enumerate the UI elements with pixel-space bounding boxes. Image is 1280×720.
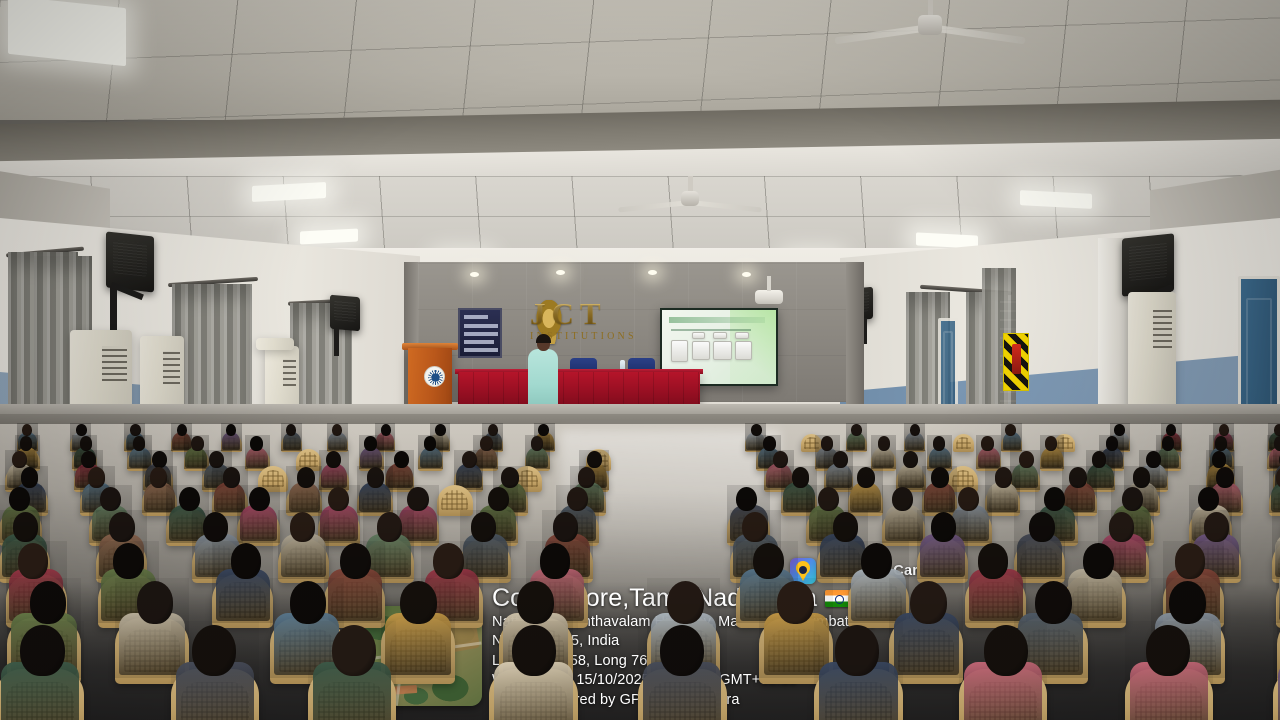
presenter-hair <box>536 334 551 343</box>
fan-blade <box>618 200 690 212</box>
audience-member <box>525 435 550 469</box>
audience-head <box>462 451 477 468</box>
audience-member <box>278 510 329 579</box>
audience-head <box>191 436 203 450</box>
audience-head <box>1045 436 1057 450</box>
audience-head <box>364 436 376 450</box>
audience-head <box>1219 424 1229 436</box>
audience-head <box>328 487 349 512</box>
slide-title-band <box>669 317 765 324</box>
audience-head <box>332 424 342 436</box>
audience-head <box>531 436 543 450</box>
slide-thumbnail <box>713 332 727 339</box>
slide-thumbnail <box>713 341 731 360</box>
audience-head <box>910 581 947 624</box>
audience-member <box>308 621 396 720</box>
audience-member <box>638 621 726 720</box>
ceiling-fan <box>840 0 1020 46</box>
notice-row <box>464 332 498 336</box>
audience-head <box>995 467 1013 487</box>
stage-downlight <box>470 272 479 277</box>
audience-head <box>381 424 391 436</box>
audience-head <box>933 436 945 450</box>
audience-head <box>931 467 949 487</box>
audience-head <box>20 436 32 450</box>
speaker-bracket <box>334 328 339 356</box>
stage-downlight <box>742 272 751 277</box>
audience-head <box>76 424 86 436</box>
audience-head <box>910 424 920 436</box>
audience-head <box>1106 436 1118 450</box>
podium-emblem-icon <box>424 366 445 387</box>
ac-vent <box>163 351 181 383</box>
audience-head <box>857 467 875 487</box>
fire-extinguisher-box <box>1003 333 1029 391</box>
audience-head <box>13 512 38 541</box>
audience-member <box>237 485 280 542</box>
audience-head <box>1109 512 1134 541</box>
audience-member <box>1273 621 1280 720</box>
audience-member <box>357 466 392 514</box>
audience-head <box>821 436 833 450</box>
audience-head <box>290 512 315 541</box>
audience-head <box>1166 424 1176 436</box>
audience-member <box>848 466 883 514</box>
audience-head <box>488 424 498 436</box>
audience-head <box>1114 424 1124 436</box>
audience-head <box>667 581 704 624</box>
audience-head <box>20 625 64 676</box>
audience-head <box>1083 543 1114 578</box>
wall-speaker <box>330 295 360 332</box>
stage-downlight <box>648 270 657 275</box>
audience-head <box>133 436 145 450</box>
audience-head <box>137 581 174 624</box>
audience-member <box>846 423 867 451</box>
audience-head <box>538 424 548 436</box>
slide-thumbnail <box>735 332 749 339</box>
audience-head <box>753 543 784 578</box>
audience-member <box>976 435 1001 469</box>
notice-row <box>464 315 488 319</box>
audience-head <box>231 543 262 578</box>
notice-row <box>464 340 494 344</box>
audience-member <box>489 621 577 720</box>
ac-vent <box>1153 310 1172 348</box>
audience-head <box>290 581 327 624</box>
audience-head <box>1005 424 1015 436</box>
audience-member <box>327 423 348 451</box>
audience-head <box>512 625 556 676</box>
audience-member <box>1269 466 1280 514</box>
audience-head <box>340 543 371 578</box>
audience-member <box>904 423 925 451</box>
slide-bullet-line <box>671 329 751 332</box>
fan-blade <box>930 24 1026 44</box>
audience-head <box>742 512 767 541</box>
audience-head <box>984 625 1028 676</box>
audience-head <box>424 436 436 450</box>
audience-head <box>326 451 341 468</box>
audience-member <box>1040 435 1065 469</box>
fan-blade <box>690 200 762 212</box>
audience-head <box>1044 487 1065 512</box>
audience-member <box>171 621 259 720</box>
ceiling-projector <box>755 290 783 304</box>
audience-head <box>203 512 228 541</box>
ac-vent <box>102 346 127 381</box>
audience-chair <box>953 434 974 452</box>
audience-member <box>286 466 321 514</box>
audience-head <box>394 451 409 468</box>
audience-head <box>400 581 437 624</box>
audience-member <box>959 621 1047 720</box>
audience-member <box>0 621 84 720</box>
audience-head <box>567 487 588 512</box>
audience-head <box>958 487 979 512</box>
audience-member <box>245 435 270 469</box>
tower-ac-unit <box>1128 292 1176 420</box>
audience-head <box>1274 436 1280 450</box>
audience-head <box>177 424 187 436</box>
audience-head <box>22 424 32 436</box>
audience-head <box>553 512 578 541</box>
notice-row <box>464 348 498 352</box>
audience-head <box>892 487 913 512</box>
audience-member <box>281 423 302 451</box>
audience-head <box>480 436 492 450</box>
audience-head <box>80 436 92 450</box>
audience-member <box>814 621 902 720</box>
audience-head <box>861 543 892 578</box>
audience-head <box>192 625 236 676</box>
audience-head <box>1204 512 1229 541</box>
audience-head <box>660 625 704 676</box>
audience-head <box>297 467 315 487</box>
audience-head <box>250 436 262 450</box>
audience-head <box>1122 487 1143 512</box>
audience-head <box>1035 581 1072 624</box>
stage-table <box>458 372 700 408</box>
audience-head <box>903 451 918 468</box>
audience-head <box>488 487 509 512</box>
audience-head <box>9 487 30 512</box>
audience-member <box>221 423 242 451</box>
fan-blade <box>834 24 930 44</box>
audience-head <box>1029 512 1054 541</box>
audience-member <box>319 450 349 490</box>
audience-head <box>179 487 200 512</box>
audience-head <box>433 543 464 578</box>
audience-head <box>1162 436 1174 450</box>
slide-thumbnail <box>671 340 688 362</box>
presenter <box>528 336 558 414</box>
audience-head <box>833 512 858 541</box>
audience-member <box>1125 621 1213 720</box>
audience-head <box>751 424 761 436</box>
notice-row <box>464 324 498 328</box>
audience-member <box>917 510 968 579</box>
audience-head <box>100 487 121 512</box>
audience-member <box>1001 423 1022 451</box>
audience-head <box>407 487 428 512</box>
audience-head <box>109 512 134 541</box>
audience-head <box>1019 451 1034 468</box>
audience-head <box>981 436 993 450</box>
audience-head <box>367 467 385 487</box>
audience-head <box>818 487 839 512</box>
audience-head <box>540 543 571 578</box>
notice-board <box>458 308 502 358</box>
audience-head <box>435 424 445 436</box>
audience-head <box>113 543 144 578</box>
stage-downlight <box>556 270 565 275</box>
photograph: JCT INSTITUTIONS <box>0 0 1280 720</box>
audience-head <box>1175 543 1206 578</box>
ac-vent <box>283 359 297 386</box>
audience-head <box>30 581 67 624</box>
audience-head <box>150 467 168 487</box>
audience-head <box>1215 436 1227 450</box>
audience-head <box>736 487 757 512</box>
audience-head <box>1146 625 1190 676</box>
audience-head <box>18 543 49 578</box>
ceiling-fan <box>620 176 760 218</box>
audience-head <box>286 424 296 436</box>
slide-thumbnail <box>735 341 752 360</box>
audience-head <box>517 581 554 624</box>
audience-head <box>833 451 848 468</box>
audience-head <box>1169 581 1206 624</box>
audience-member <box>359 435 384 469</box>
audience-head <box>1198 487 1219 512</box>
audience-head <box>249 487 270 512</box>
audience-head <box>130 424 140 436</box>
audience-head <box>835 625 879 676</box>
audience-member <box>454 450 484 490</box>
audience-head <box>978 543 1009 578</box>
fan-motor <box>918 15 942 35</box>
fan-motor <box>681 191 699 206</box>
slide-thumbnail <box>692 341 710 360</box>
audience-head <box>851 424 861 436</box>
audience-head <box>377 512 402 541</box>
audience-head <box>777 581 814 624</box>
projector-shelf-unit <box>256 338 294 350</box>
audience-head <box>332 625 376 676</box>
audience-member <box>927 435 952 469</box>
audience-head <box>471 512 496 541</box>
audience-head <box>763 436 775 450</box>
audience-member <box>418 435 443 469</box>
audience-member <box>871 435 896 469</box>
audience-head <box>226 424 236 436</box>
audience-head <box>931 512 956 541</box>
audience-member <box>212 541 273 624</box>
audience-head <box>1274 424 1280 436</box>
slide-thumbnail <box>692 332 706 339</box>
audience-head <box>878 436 890 450</box>
stage-wall-edge-right <box>846 262 864 407</box>
